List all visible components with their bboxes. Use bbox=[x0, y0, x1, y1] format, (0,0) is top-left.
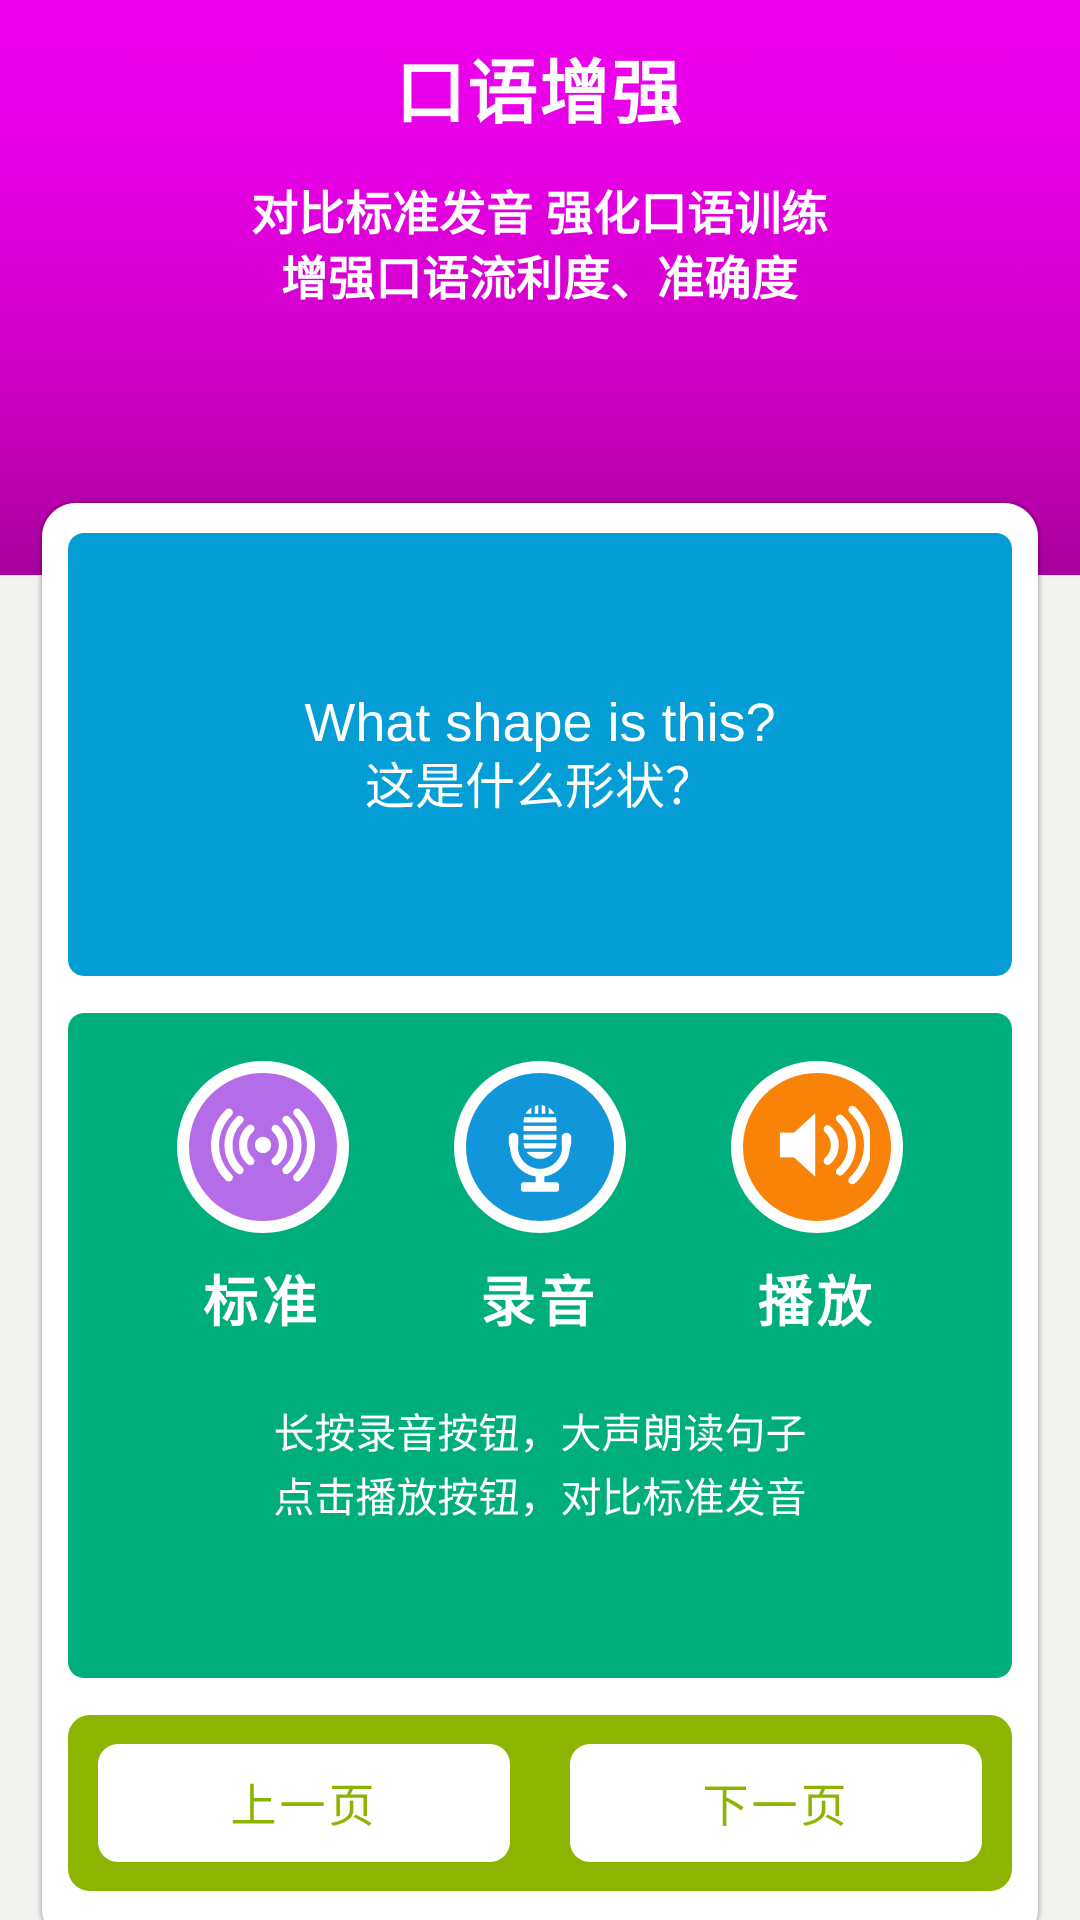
play-control[interactable]: 播放 bbox=[712, 1061, 922, 1337]
record-control[interactable]: 录音 bbox=[435, 1061, 645, 1337]
next-page-button[interactable]: 下一页 bbox=[570, 1744, 982, 1862]
question-panel: What shape is this? 这是什么形状？ bbox=[68, 533, 1012, 976]
standard-button[interactable] bbox=[177, 1061, 349, 1233]
standard-control[interactable]: 标准 bbox=[158, 1061, 368, 1337]
record-button-face bbox=[466, 1073, 614, 1221]
record-button[interactable] bbox=[454, 1061, 626, 1233]
record-label: 录音 bbox=[481, 1257, 599, 1337]
sound-waves-icon bbox=[209, 1091, 317, 1204]
header-banner: 口语增强 对比标准发音 强化口语训练 增强口语流利度、准确度 bbox=[0, 0, 1080, 575]
main-card: What shape is this? 这是什么形状？ bbox=[42, 503, 1038, 1920]
play-label: 播放 bbox=[758, 1257, 876, 1337]
practice-panel: 标准 bbox=[68, 1013, 1012, 1678]
microphone-icon bbox=[488, 1093, 592, 1202]
hint-line-2: 点击播放按钮，对比标准发音 bbox=[68, 1467, 1012, 1531]
play-button-face bbox=[743, 1073, 891, 1221]
standard-label: 标准 bbox=[204, 1257, 322, 1337]
previous-page-button[interactable]: 上一页 bbox=[98, 1744, 510, 1862]
hint-line-1: 长按录音按钮，大声朗读句子 bbox=[68, 1403, 1012, 1467]
control-row: 标准 bbox=[68, 1061, 1012, 1337]
standard-button-face bbox=[189, 1073, 337, 1221]
page-title: 口语增强 bbox=[0, 55, 1080, 132]
question-line-chinese: 这是什么形状？ bbox=[304, 757, 775, 818]
question-line-english: What shape is this? bbox=[304, 691, 775, 757]
subtitle-line-2: 增强口语流利度、准确度 bbox=[0, 247, 1080, 312]
speaker-icon bbox=[764, 1092, 870, 1203]
play-button[interactable] bbox=[731, 1061, 903, 1233]
question-text: What shape is this? 这是什么形状？ bbox=[304, 691, 775, 818]
navigation-bar: 上一页 下一页 bbox=[68, 1715, 1012, 1891]
subtitle-line-1: 对比标准发音 强化口语训练 bbox=[0, 182, 1080, 247]
practice-hint: 长按录音按钮，大声朗读句子 点击播放按钮，对比标准发音 bbox=[68, 1403, 1012, 1530]
page-subtitle: 对比标准发音 强化口语训练 增强口语流利度、准确度 bbox=[0, 182, 1080, 312]
